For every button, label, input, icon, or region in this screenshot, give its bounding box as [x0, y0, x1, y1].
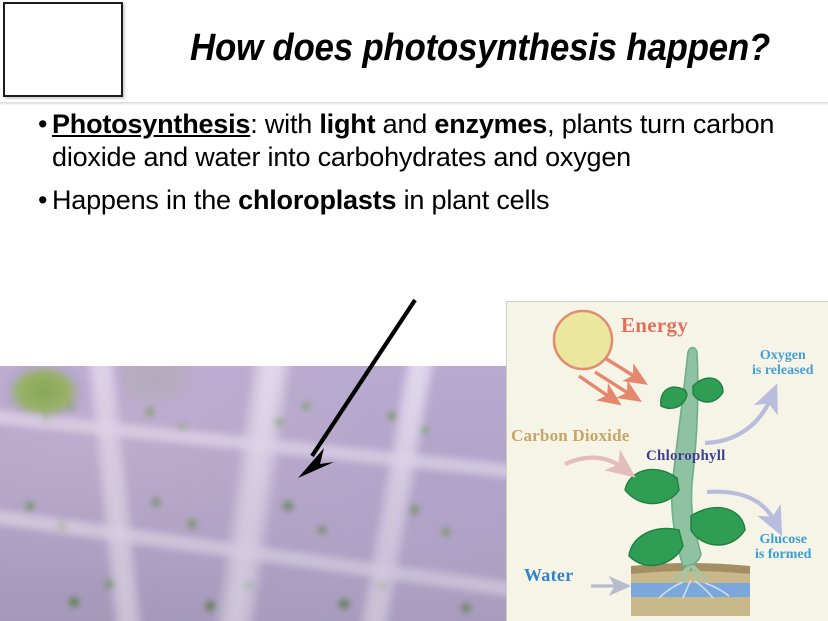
bullet-marker: •: [30, 184, 52, 217]
slide-header: How does photosynthesis happen?: [0, 0, 828, 103]
label-energy: Energy: [621, 314, 688, 336]
slide-canvas: How does photosynthesis happen? • Photos…: [0, 0, 828, 621]
logo-placeholder-box: [3, 2, 123, 97]
label-carbon-dioxide: Carbon Dioxide: [511, 427, 630, 445]
label-water: Water: [524, 566, 573, 585]
oxygen-arrow: [705, 398, 771, 443]
page-title: How does photosynthesis happen?: [176, 25, 783, 71]
list-item: • Happens in the chloroplasts in plant c…: [30, 184, 800, 217]
carbon-dioxide-arrow: [565, 458, 623, 468]
micrograph-color-tint: [0, 366, 507, 621]
term-enzymes: enzymes: [434, 109, 547, 139]
bullet-marker: •: [30, 108, 52, 141]
label-oxygen-released: Oxygen is released: [752, 349, 814, 379]
soil-block: [631, 563, 750, 616]
label-oxygen-line1: Oxygen: [752, 349, 814, 364]
bullet-1-seg-and: and: [375, 109, 434, 139]
bullet-2-seg-before: Happens in the: [52, 185, 238, 215]
photosynthesis-diagram: Energy Carbon Dioxide Chlorophyll Oxygen…: [506, 301, 828, 621]
plant-cells-micrograph: [0, 366, 507, 621]
label-oxygen-line2: is released: [752, 364, 814, 379]
bullet-1-seg-after1: : with: [250, 109, 319, 139]
label-glucose-formed: Glucose is formed: [755, 533, 811, 563]
header-divider: [0, 102, 828, 105]
bullet-text-1: Photosynthesis: with light and enzymes, …: [52, 108, 800, 174]
sun-icon: [554, 311, 612, 369]
bullet-text-2: Happens in the chloroplasts in plant cel…: [52, 184, 800, 217]
label-chlorophyll: Chlorophyll: [646, 449, 725, 465]
term-light: light: [319, 109, 375, 139]
label-glucose-line2: is formed: [755, 548, 811, 563]
label-glucose-line1: Glucose: [755, 533, 811, 548]
list-item: • Photosynthesis: with light and enzymes…: [30, 108, 800, 174]
term-photosynthesis: Photosynthesis: [52, 109, 250, 139]
term-chloroplasts: chloroplasts: [238, 185, 396, 215]
bullet-2-seg-after: in plant cells: [396, 185, 549, 215]
bullet-list: • Photosynthesis: with light and enzymes…: [30, 108, 800, 219]
